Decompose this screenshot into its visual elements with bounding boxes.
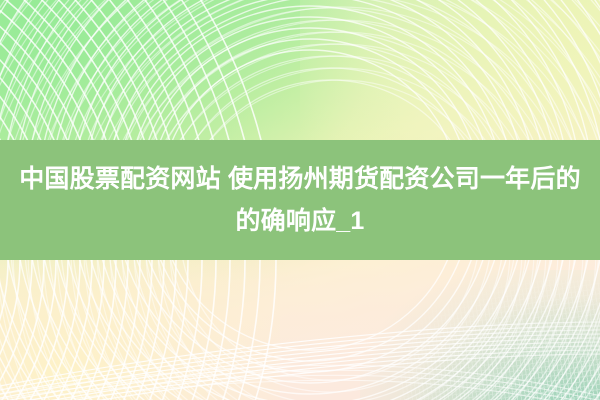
title-line-1: 中国股票配资网站 使用扬州期货配资公司一年后的 xyxy=(2,158,598,200)
title-line-2: 的确响应_1 xyxy=(2,200,598,242)
background-wash-teal-corner xyxy=(360,270,600,400)
banner-image: 中国股票配资网站 使用扬州期货配资公司一年后的 的确响应_1 xyxy=(0,0,600,400)
title-banner: 中国股票配资网站 使用扬州期货配资公司一年后的 的确响应_1 xyxy=(0,140,600,260)
